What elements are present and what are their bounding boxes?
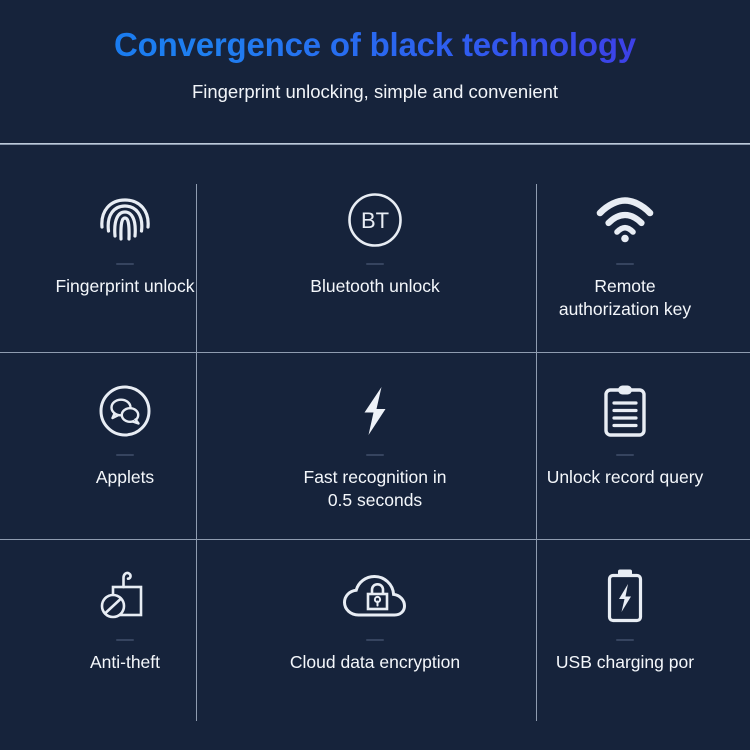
icon-underline-dash <box>116 263 134 265</box>
page-title: Convergence of black technology <box>0 24 750 66</box>
feature-label: Applets <box>92 466 158 489</box>
feature-cell-anti-theft[interactable]: Anti-theft <box>0 539 250 750</box>
feature-row-2: Applets Fast recognition in 0.5 seconds <box>0 352 750 539</box>
cloud-lock-icon <box>341 567 409 625</box>
feature-cell-usb-charging-port[interactable]: USB charging por <box>500 539 750 750</box>
icon-underline-dash <box>616 639 634 641</box>
icon-underline-dash <box>366 454 384 456</box>
icon-underline-dash <box>116 639 134 641</box>
feature-cell-fast-recognition[interactable]: Fast recognition in 0.5 seconds <box>250 352 500 539</box>
feature-label: Remote authorization key <box>555 275 695 321</box>
bluetooth-icon-text: BT <box>361 208 389 233</box>
icon-underline-dash <box>116 454 134 456</box>
icon-underline-dash <box>616 454 634 456</box>
feature-cell-unlock-record-query[interactable]: Unlock record query <box>500 352 750 539</box>
feature-label: Bluetooth unlock <box>306 275 443 298</box>
feature-label: Fingerprint unlock <box>51 275 198 298</box>
feature-grid: Fingerprint unlock BT Bluetooth unlock <box>0 145 750 750</box>
icon-underline-dash <box>616 263 634 265</box>
wifi-icon <box>595 191 655 249</box>
feature-cell-remote-authorization-key[interactable]: Remote authorization key <box>500 145 750 352</box>
feature-cell-cloud-data-encryption[interactable]: Cloud data encryption <box>250 539 500 750</box>
feature-label: USB charging por <box>552 651 698 674</box>
feature-row-1: Fingerprint unlock BT Bluetooth unlock <box>0 145 750 352</box>
feature-cell-bluetooth-unlock[interactable]: BT Bluetooth unlock <box>250 145 500 352</box>
lightning-bolt-icon <box>358 382 392 440</box>
bluetooth-bt-circle-icon: BT <box>346 191 404 249</box>
icon-underline-dash <box>366 639 384 641</box>
speech-bubbles-circle-icon <box>98 382 152 440</box>
page-header: Convergence of black technology Fingerpr… <box>0 0 750 145</box>
fingerprint-icon <box>96 191 154 249</box>
clipboard-icon <box>602 382 648 440</box>
page-subtitle: Fingerprint unlocking, simple and conven… <box>0 80 750 104</box>
feature-cell-fingerprint-unlock[interactable]: Fingerprint unlock <box>0 145 250 352</box>
feature-label: Fast recognition in 0.5 seconds <box>300 466 451 512</box>
feature-label: Anti-theft <box>86 651 164 674</box>
feature-row-3: Anti-theft Cloud data encryption <box>0 539 750 750</box>
anti-theft-tag-icon <box>99 567 151 625</box>
icon-underline-dash <box>366 263 384 265</box>
feature-cell-applets[interactable]: Applets <box>0 352 250 539</box>
battery-charging-icon <box>605 567 645 625</box>
feature-label: Cloud data encryption <box>286 651 464 674</box>
feature-label: Unlock record query <box>543 466 708 489</box>
